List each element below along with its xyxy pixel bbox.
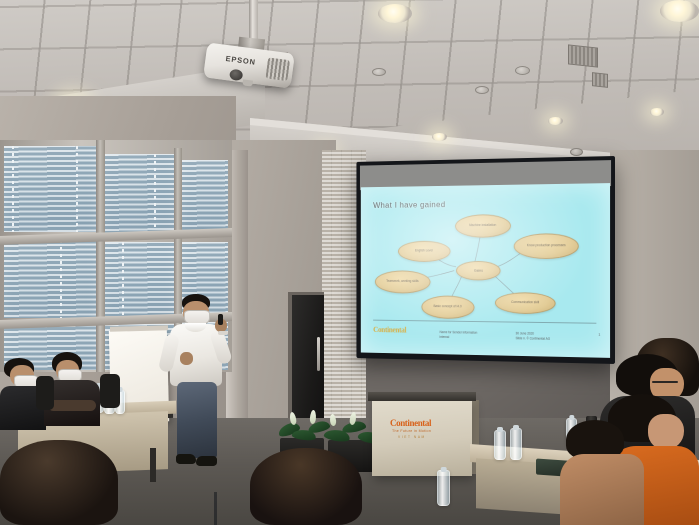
presenter-left-hand: [180, 352, 193, 365]
slide-footer-left: Name for Sender information internal: [440, 330, 478, 340]
smoke-detector-icon: [372, 68, 386, 76]
mindmap-node-label: Teamwork, working skills: [386, 280, 419, 283]
podium-tagline: The Future in Motion: [392, 429, 431, 433]
downlight-icon: [378, 4, 412, 23]
water-bottle: [437, 470, 450, 506]
projector-mount-pole: [249, 0, 258, 42]
door-handle-icon[interactable]: [317, 337, 320, 371]
presenter: [158, 294, 240, 484]
mindmap-node-label: Basic concept of I4.0: [434, 305, 462, 309]
slide-footer-right: 30 June 2020 Slide n. © Continental AG: [516, 331, 550, 341]
bottle-cap: [440, 467, 447, 472]
water-bottle: [510, 428, 522, 460]
meeting-room-photo: EPSON: [0, 0, 699, 525]
foreground-head-left: [0, 440, 118, 525]
slide-continental-logo: Continental: [373, 325, 406, 334]
smoke-detector-icon: [570, 148, 583, 156]
blind-cord: [122, 242, 124, 316]
mindmap-node: Machine installation: [455, 214, 511, 238]
mindmap-node-label: Machine installation: [469, 224, 496, 228]
presentation-slide: What I have gained English Level Machine…: [361, 183, 610, 358]
window-pane: [182, 160, 228, 236]
downlight-icon: [650, 108, 664, 116]
projector-vent: [265, 57, 290, 81]
mindmap-center-node: Gains: [456, 261, 501, 281]
smoke-detector-icon: [475, 86, 489, 94]
ceiling-vent: [592, 72, 608, 88]
projector-foot: [242, 79, 253, 86]
slide-divider: [373, 320, 596, 324]
window-mullion: [96, 140, 105, 372]
water-bottle: [494, 430, 506, 460]
mindmap-node-label: Communication skill: [511, 301, 539, 305]
projection-screen: What I have gained English Level Machine…: [356, 156, 615, 364]
blind-cord: [12, 146, 14, 232]
office-chair: [36, 376, 54, 410]
glasses-icon: [652, 381, 678, 383]
bottle-cap: [513, 425, 519, 430]
table-leg: [150, 448, 156, 482]
foreground-head-center: [250, 448, 362, 525]
projector-lens-icon: [229, 69, 243, 82]
continental-podium: Continental The Future in Motion VIET NA…: [372, 398, 472, 476]
presenter-leg-seam: [214, 492, 217, 525]
plant-flower: [329, 414, 336, 427]
mindmap-node: Know production processes: [514, 233, 579, 259]
downlight-icon: [660, 0, 699, 22]
mindmap-node-label: Know production processes: [527, 244, 566, 248]
attendee-folded-arms: [48, 400, 96, 411]
slide-title: What I have gained: [373, 199, 445, 209]
projector-brand-label: EPSON: [225, 54, 256, 67]
podium-subtitle: VIET NAM: [398, 435, 426, 439]
presenter-jeans: [177, 382, 217, 458]
blind-cord: [60, 240, 62, 318]
window-blinds: [4, 240, 96, 318]
window-pane: [4, 240, 96, 318]
mindmap-node: Basic concept of I4.0: [421, 295, 474, 319]
mindmap-center-label: Gains: [474, 269, 483, 273]
podium-top-surface: [368, 392, 476, 401]
wristwatch: [218, 331, 228, 335]
audience-member-3: [560, 420, 650, 525]
window-blinds: [182, 160, 228, 236]
presentation-clicker[interactable]: [218, 314, 223, 325]
mindmap-node: English Level: [398, 241, 450, 262]
blind-cord: [154, 154, 156, 234]
window-pane: [104, 154, 174, 234]
ceiling-vent: [568, 44, 598, 67]
mindmap-node: Teamwork, working skills: [375, 270, 431, 293]
downlight-icon: [432, 133, 447, 141]
smoke-detector-icon: [515, 66, 530, 75]
office-chair: [100, 374, 120, 408]
mindmap-node: Communication skill: [495, 292, 556, 314]
blind-cord: [76, 146, 78, 232]
presenter-left-shoe: [176, 454, 196, 464]
podium-continental-logo: Continental: [390, 418, 431, 428]
slide-page-number: 1: [598, 333, 600, 337]
window-blinds: [4, 146, 96, 232]
audience-face: [648, 414, 684, 450]
audience-arm: [560, 454, 644, 525]
mindmap-node-label: English Level: [415, 250, 433, 253]
window-pane: [4, 146, 96, 232]
bottle-cap: [497, 427, 503, 432]
presenter-right-shoe: [196, 456, 217, 466]
downlight-icon: [548, 117, 563, 125]
window-blinds: [104, 154, 174, 234]
